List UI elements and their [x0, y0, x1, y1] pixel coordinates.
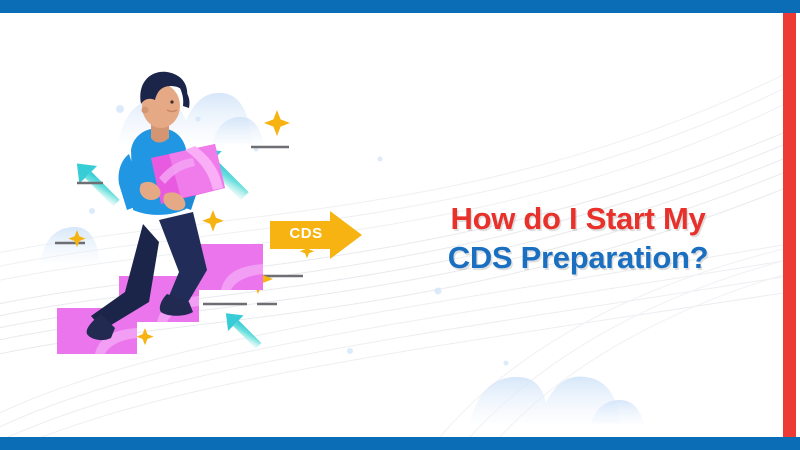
- cds-preparation-banner: CDS How do I Start My CDS Preparation?: [0, 0, 800, 450]
- top-border-bar: [0, 0, 800, 13]
- headline-line-1: How do I Start My: [408, 199, 748, 238]
- banner-stage: CDS How do I Start My CDS Preparation?: [0, 13, 783, 437]
- bottom-border-bar: [0, 437, 800, 450]
- stairs-group: [57, 244, 263, 354]
- arrow-shape: [268, 209, 364, 261]
- headline-line-2: CDS Preparation?: [408, 238, 748, 277]
- page-title: How do I Start My CDS Preparation?: [408, 199, 748, 277]
- cds-arrow-badge[interactable]: CDS: [268, 209, 364, 261]
- right-border-bar: [783, 13, 796, 437]
